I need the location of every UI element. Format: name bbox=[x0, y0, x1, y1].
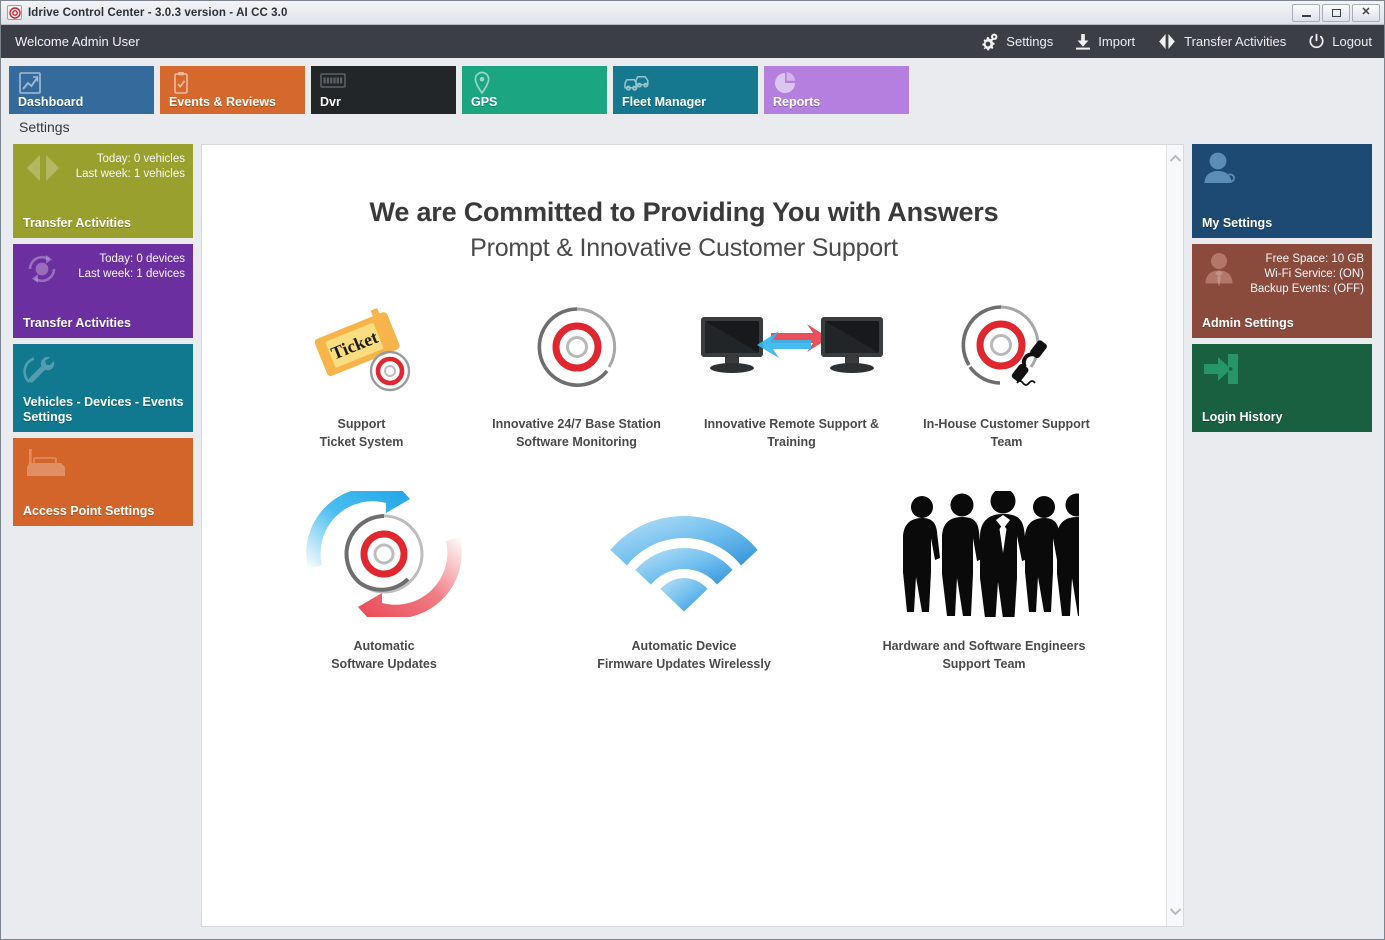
tile-stat-line: Last week: 1 vehicles bbox=[23, 167, 185, 182]
tab-gps-label: GPS bbox=[471, 95, 497, 109]
close-icon: ✕ bbox=[1361, 7, 1370, 18]
tile-transfer-activities-devices[interactable]: Today: 0 devices Last week: 1 devices Tr… bbox=[13, 244, 193, 338]
feature-caption-line1: Innovative 24/7 Base Station bbox=[492, 415, 661, 433]
feature-caption: Automatic Software Updates bbox=[331, 637, 437, 673]
settings-label: Settings bbox=[1006, 34, 1053, 49]
content-scroll-area: We are Committed to Providing You with A… bbox=[202, 145, 1166, 926]
feature-caption-line1: Automatic bbox=[331, 637, 437, 655]
feature-in-house-support-team: In-House Customer Support Team bbox=[899, 297, 1114, 451]
feature-caption: Innovative Remote Support & Training bbox=[704, 415, 879, 451]
minimize-button[interactable] bbox=[1292, 4, 1320, 22]
scroll-down-icon[interactable] bbox=[1169, 903, 1182, 921]
title-bar: Idrive Control Center - 3.0.3 version - … bbox=[1, 1, 1384, 25]
phone-support-icon bbox=[899, 297, 1114, 397]
feature-caption-line2: Training bbox=[704, 433, 879, 451]
tile-stat-line: Today: 0 vehicles bbox=[23, 152, 185, 167]
tab-dvr[interactable]: Dvr bbox=[311, 66, 456, 114]
maximize-icon bbox=[1332, 9, 1341, 17]
page-body: Today: 0 vehicles Last week: 1 vehicles … bbox=[1, 144, 1384, 939]
content-panel: We are Committed to Providing You with A… bbox=[201, 144, 1184, 927]
tile-title: Admin Settings bbox=[1202, 316, 1294, 331]
tab-gps[interactable]: GPS bbox=[462, 66, 607, 114]
dvr-icon bbox=[320, 78, 346, 95]
feature-caption-line1: Hardware and Software Engineers bbox=[883, 637, 1086, 655]
tile-access-point-settings[interactable]: Access Point Settings bbox=[13, 438, 193, 526]
support-ticket-icon: Ticket bbox=[254, 297, 469, 397]
feature-caption: Automatic Device Firmware Updates Wirele… bbox=[597, 637, 771, 673]
feature-caption-line2: Software Updates bbox=[331, 655, 437, 673]
download-icon bbox=[1075, 33, 1091, 50]
import-button[interactable]: Import bbox=[1075, 33, 1135, 50]
app-icon bbox=[7, 5, 22, 20]
tile-stat-line: Free Space: 10 GB bbox=[1202, 252, 1364, 267]
feature-caption: In-House Customer Support Team bbox=[923, 415, 1090, 451]
feature-row-2: Automatic Software Updates bbox=[202, 489, 1166, 673]
tab-events-reviews-label: Events & Reviews bbox=[169, 95, 276, 109]
remote-support-monitors-icon bbox=[684, 297, 899, 397]
feature-caption-line2: Ticket System bbox=[320, 433, 404, 451]
tile-transfer-activities-vehicles[interactable]: Today: 0 vehicles Last week: 1 vehicles … bbox=[13, 144, 193, 238]
logout-label: Logout bbox=[1332, 34, 1372, 49]
user-icon bbox=[1202, 152, 1238, 191]
feature-caption-line1: Innovative Remote Support & bbox=[704, 415, 879, 433]
gears-icon bbox=[979, 33, 999, 51]
base-station-target-icon bbox=[469, 297, 684, 397]
page-subheadline: Prompt & Innovative Customer Support bbox=[202, 234, 1166, 263]
content-vertical-scrollbar[interactable] bbox=[1166, 145, 1183, 926]
tile-title: My Settings bbox=[1202, 216, 1272, 231]
tab-reports[interactable]: Reports bbox=[764, 66, 909, 114]
tile-stat-line: Wi-Fi Service: (ON) bbox=[1202, 267, 1364, 282]
scroll-up-icon[interactable] bbox=[1169, 150, 1182, 168]
feature-caption-line1: Support bbox=[320, 415, 404, 433]
power-icon bbox=[1308, 33, 1325, 50]
tile-title: Login History bbox=[1202, 410, 1283, 425]
tile-title: Transfer Activities bbox=[23, 216, 131, 231]
transfer-activities-button[interactable]: Transfer Activities bbox=[1157, 33, 1286, 50]
software-update-refresh-icon bbox=[234, 489, 534, 619]
application-window: Idrive Control Center - 3.0.3 version - … bbox=[0, 0, 1385, 940]
page-headline: We are Committed to Providing You with A… bbox=[202, 197, 1166, 228]
tile-title: Access Point Settings bbox=[23, 504, 154, 519]
feature-caption-line2: Team bbox=[923, 433, 1090, 451]
tile-title: Vehicles - Devices - Events Settings bbox=[23, 395, 193, 425]
tab-dvr-label: Dvr bbox=[320, 95, 341, 109]
minimize-icon bbox=[1302, 15, 1311, 17]
tab-events-reviews[interactable]: Events & Reviews bbox=[160, 66, 305, 114]
router-icon bbox=[23, 446, 67, 485]
engineers-team-icon bbox=[834, 489, 1134, 619]
transfer-activities-label: Transfer Activities bbox=[1184, 34, 1286, 49]
feature-engineers-support-team: Hardware and Software Engineers Support … bbox=[834, 489, 1134, 673]
welcome-message: Welcome Admin User bbox=[15, 34, 140, 49]
window-title: Idrive Control Center - 3.0.3 version - … bbox=[28, 7, 287, 19]
breadcrumb: Settings bbox=[19, 119, 70, 135]
logout-button[interactable]: Logout bbox=[1308, 33, 1372, 50]
top-bar: Welcome Admin User Settings bbox=[1, 25, 1384, 58]
close-button[interactable]: ✕ bbox=[1352, 4, 1380, 22]
feature-remote-support-training: Innovative Remote Support & Training bbox=[684, 297, 899, 451]
top-bar-actions: Settings Import bbox=[979, 33, 1372, 51]
feature-caption-line1: In-House Customer Support bbox=[923, 415, 1090, 433]
tile-stat-line: Today: 0 devices bbox=[23, 252, 185, 267]
transfer-arrows-icon bbox=[1157, 33, 1177, 50]
feature-support-ticket-system: Ticket Support bbox=[254, 297, 469, 451]
tile-stats: Today: 0 devices Last week: 1 devices bbox=[23, 252, 185, 282]
tile-my-settings[interactable]: My Settings bbox=[1192, 144, 1372, 238]
tab-reports-label: Reports bbox=[773, 95, 820, 109]
module-tabs: Dashboard Events & Reviews bbox=[1, 58, 1384, 110]
tab-fleet-manager[interactable]: Fleet Manager bbox=[613, 66, 758, 114]
breadcrumb-bar: Settings bbox=[1, 110, 1384, 144]
import-label: Import bbox=[1098, 34, 1135, 49]
tile-title: Transfer Activities bbox=[23, 316, 131, 331]
tile-admin-settings[interactable]: Free Space: 10 GB Wi-Fi Service: (ON) Ba… bbox=[1192, 244, 1372, 338]
feature-caption: Innovative 24/7 Base Station Software Mo… bbox=[492, 415, 661, 451]
tile-stat-line: Last week: 1 devices bbox=[23, 267, 185, 282]
feature-caption-line1: Automatic Device bbox=[597, 637, 771, 655]
left-sidebar: Today: 0 vehicles Last week: 1 vehicles … bbox=[13, 144, 193, 927]
feature-caption: Hardware and Software Engineers Support … bbox=[883, 637, 1086, 673]
feature-caption-line2: Firmware Updates Wirelessly bbox=[597, 655, 771, 673]
tile-stats: Today: 0 vehicles Last week: 1 vehicles bbox=[23, 152, 185, 182]
wifi-signal-icon bbox=[534, 489, 834, 619]
tile-login-history[interactable]: Login History bbox=[1192, 344, 1372, 432]
feature-automatic-device-firmware-updates: Automatic Device Firmware Updates Wirele… bbox=[534, 489, 834, 673]
feature-base-station-monitoring: Innovative 24/7 Base Station Software Mo… bbox=[469, 297, 684, 451]
feature-grid: Ticket Support bbox=[202, 297, 1166, 673]
tab-fleet-manager-label: Fleet Manager bbox=[622, 95, 706, 109]
window-controls: ✕ bbox=[1292, 4, 1382, 22]
feature-automatic-software-updates: Automatic Software Updates bbox=[234, 489, 534, 673]
login-door-icon bbox=[1202, 352, 1240, 391]
tab-dashboard[interactable]: Dashboard bbox=[9, 66, 154, 114]
right-sidebar: My Settings Free Space: 10 GB Wi- bbox=[1192, 144, 1372, 927]
tile-vehicles-devices-events-settings[interactable]: Vehicles - Devices - Events Settings bbox=[13, 344, 193, 432]
feature-caption-line2: Software Monitoring bbox=[492, 433, 661, 451]
tile-stat-line: Backup Events: (OFF) bbox=[1202, 282, 1364, 297]
feature-caption: Support Ticket System bbox=[320, 415, 404, 451]
wrench-icon bbox=[23, 352, 61, 393]
tab-dashboard-label: Dashboard bbox=[18, 95, 83, 109]
tile-stats: Free Space: 10 GB Wi-Fi Service: (ON) Ba… bbox=[1202, 252, 1364, 297]
feature-row-1: Ticket Support bbox=[202, 297, 1166, 451]
settings-button[interactable]: Settings bbox=[979, 33, 1053, 51]
feature-caption-line2: Support Team bbox=[883, 655, 1086, 673]
maximize-button[interactable] bbox=[1322, 4, 1350, 22]
